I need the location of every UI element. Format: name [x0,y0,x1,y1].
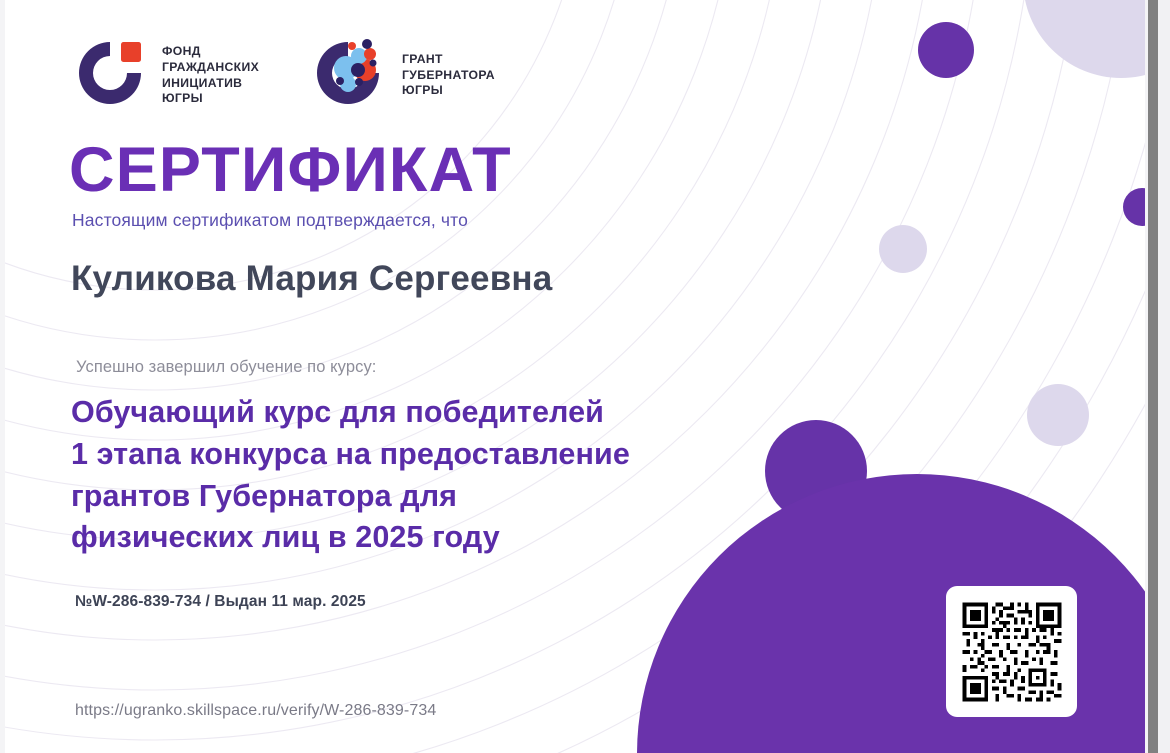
certificate-canvas: ФОНД ГРАЖДАНСКИХ ИНИЦИАТИВ ЮГРЫ [5,0,1145,753]
course-title: Обучающий курс для победителей 1 этапа к… [71,392,771,559]
qr-code-icon [959,599,1065,705]
scrollbar-track[interactable] [1148,0,1170,753]
upper-purple-dot [918,22,974,78]
recipient-name: Куликова Мария Сергеевна [71,259,552,299]
logo-fond-label: ФОНД ГРАЖДАНСКИХ ИНИЦИАТИВ ЮГРЫ [162,44,259,107]
logo-grant-label: ГРАНТ ГУБЕРНАТОРА ЮГРЫ [402,52,495,100]
qr-code-card[interactable] [946,586,1077,717]
verification-url[interactable]: https://ugranko.skillspace.ru/verify/W-2… [75,702,436,720]
right-lavender-dot [1027,384,1089,446]
certificate-subtitle: Настоящим сертификатом подтверждается, ч… [72,210,468,231]
ring-with-dots-logo [307,32,389,119]
scrollbar-thumb[interactable] [1148,0,1158,753]
edge-purple-dot [1123,188,1145,226]
c-ring-with-square-logo [71,34,149,117]
logo-row: ФОНД ГРАЖДАНСКИХ ИНИЦИАТИВ ЮГРЫ [71,32,495,119]
certificate-number-and-date: №W-286-839-734 / Выдан 11 мар. 2025 [75,593,366,611]
top-right-lavender-arc [1023,0,1145,78]
logo-grant-gubernatora-ugry: ГРАНТ ГУБЕРНАТОРА ЮГРЫ [307,32,495,119]
logo-fond-grazhdanskih-initsiativ-ugry: ФОНД ГРАЖДАНСКИХ ИНИЦИАТИВ ЮГРЫ [71,34,259,117]
browser-viewport: ФОНД ГРАЖДАНСКИХ ИНИЦИАТИВ ЮГРЫ [0,0,1170,753]
mid-lavender-dot [879,225,927,273]
certificate-title: СЕРТИФИКАТ [69,139,512,202]
completion-note: Успешно завершил обучение по курсу: [76,358,377,377]
